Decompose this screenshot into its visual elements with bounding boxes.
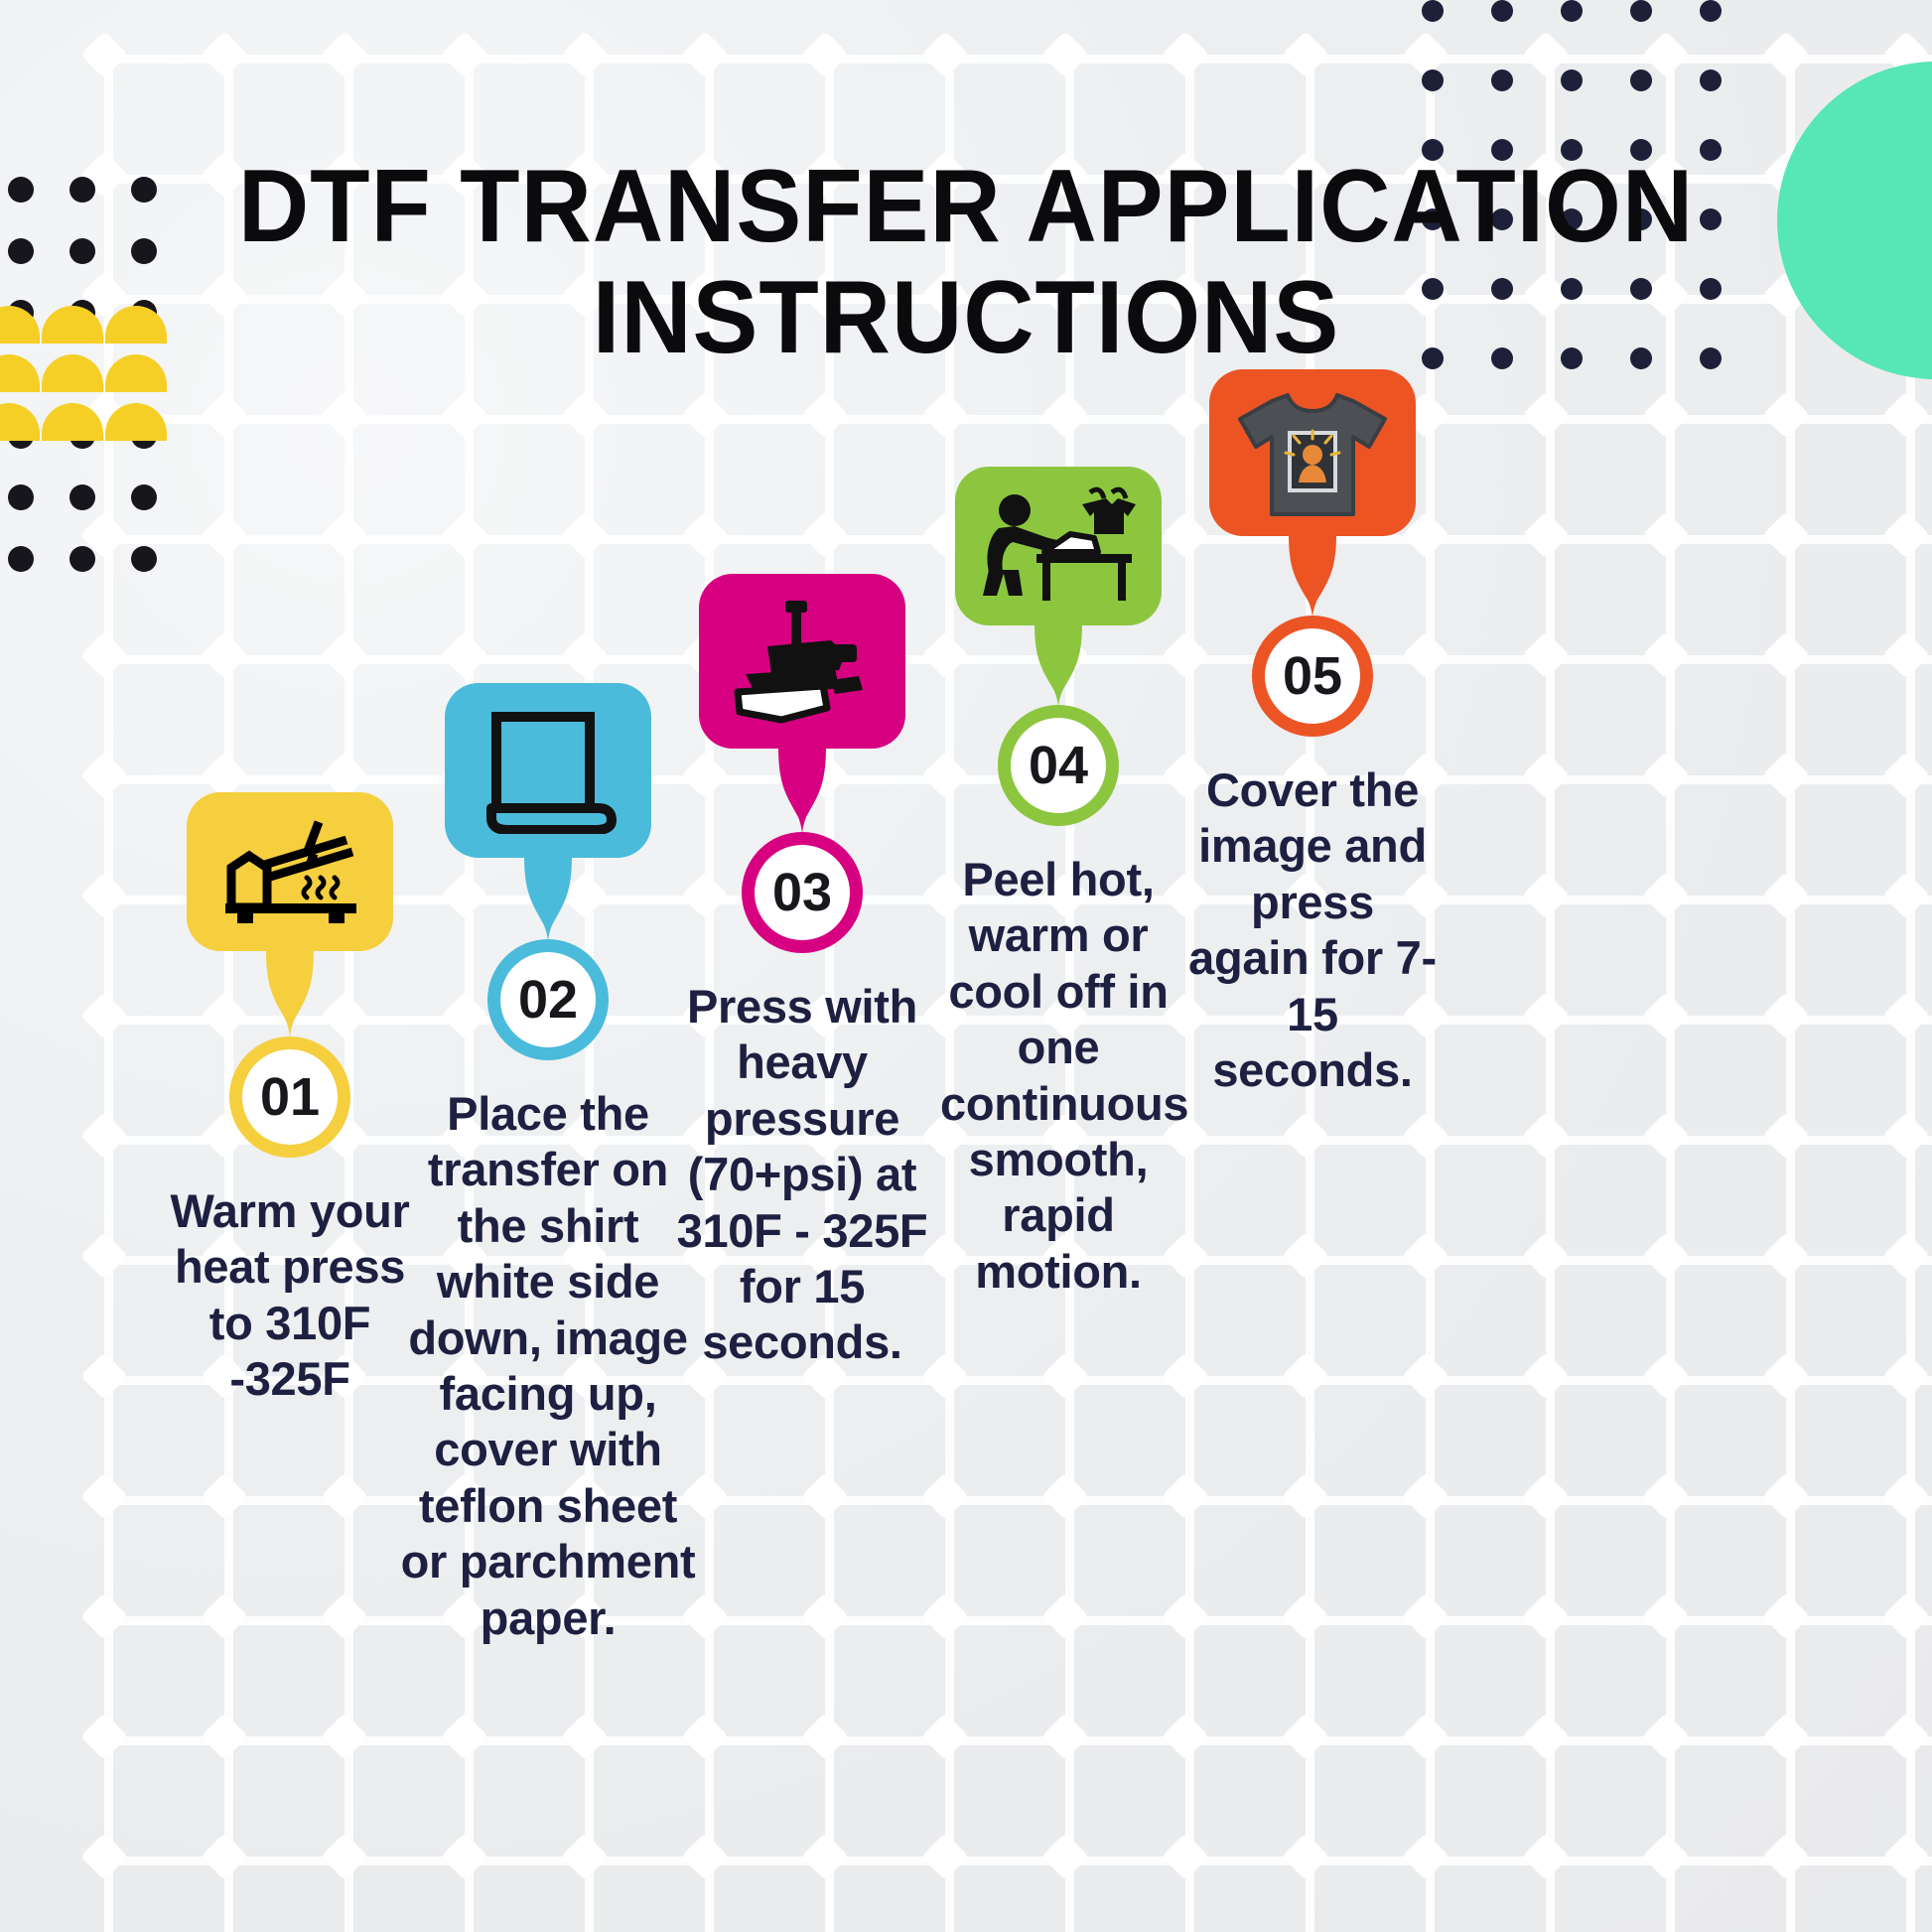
page-title-line-1: DTF TRANSFER APPLICATION: [237, 151, 1696, 262]
step-05-caption: Cover the image and press again for 7-15…: [1188, 762, 1437, 1098]
step-03-number-badge[interactable]: 03: [742, 832, 863, 953]
page-title-line-2: INSTRUCTIONS: [237, 262, 1696, 373]
step-04-number: 04: [1029, 735, 1088, 796]
step-01-number: 01: [260, 1066, 320, 1128]
step-02-connector: [524, 856, 572, 945]
step-05-number: 05: [1283, 645, 1342, 707]
press-pressure-icon: [728, 597, 877, 726]
heat-press-icon: [215, 816, 364, 927]
step-02-number-badge[interactable]: 02: [487, 939, 609, 1060]
step-01-connector: [266, 949, 314, 1042]
step-03-number: 03: [772, 862, 832, 923]
transfer-sheet-icon: [479, 707, 618, 834]
step-02-number: 02: [518, 969, 578, 1031]
step-04-number-badge[interactable]: 04: [998, 705, 1119, 826]
step-04-connector: [1035, 623, 1082, 711]
tshirt-print-icon: [1232, 387, 1393, 518]
page-title: DTF TRANSFER APPLICATION INSTRUCTIONS: [49, 151, 1884, 374]
step-05-connector: [1289, 534, 1336, 621]
step-05-number-badge[interactable]: 05: [1252, 616, 1373, 737]
step-01-number-badge[interactable]: 01: [229, 1036, 350, 1158]
step-05-icon-card[interactable]: [1209, 369, 1416, 536]
step-05[interactable]: 05 Cover the image and press again for 7…: [1114, 369, 1511, 1098]
step-03-connector: [778, 747, 826, 838]
